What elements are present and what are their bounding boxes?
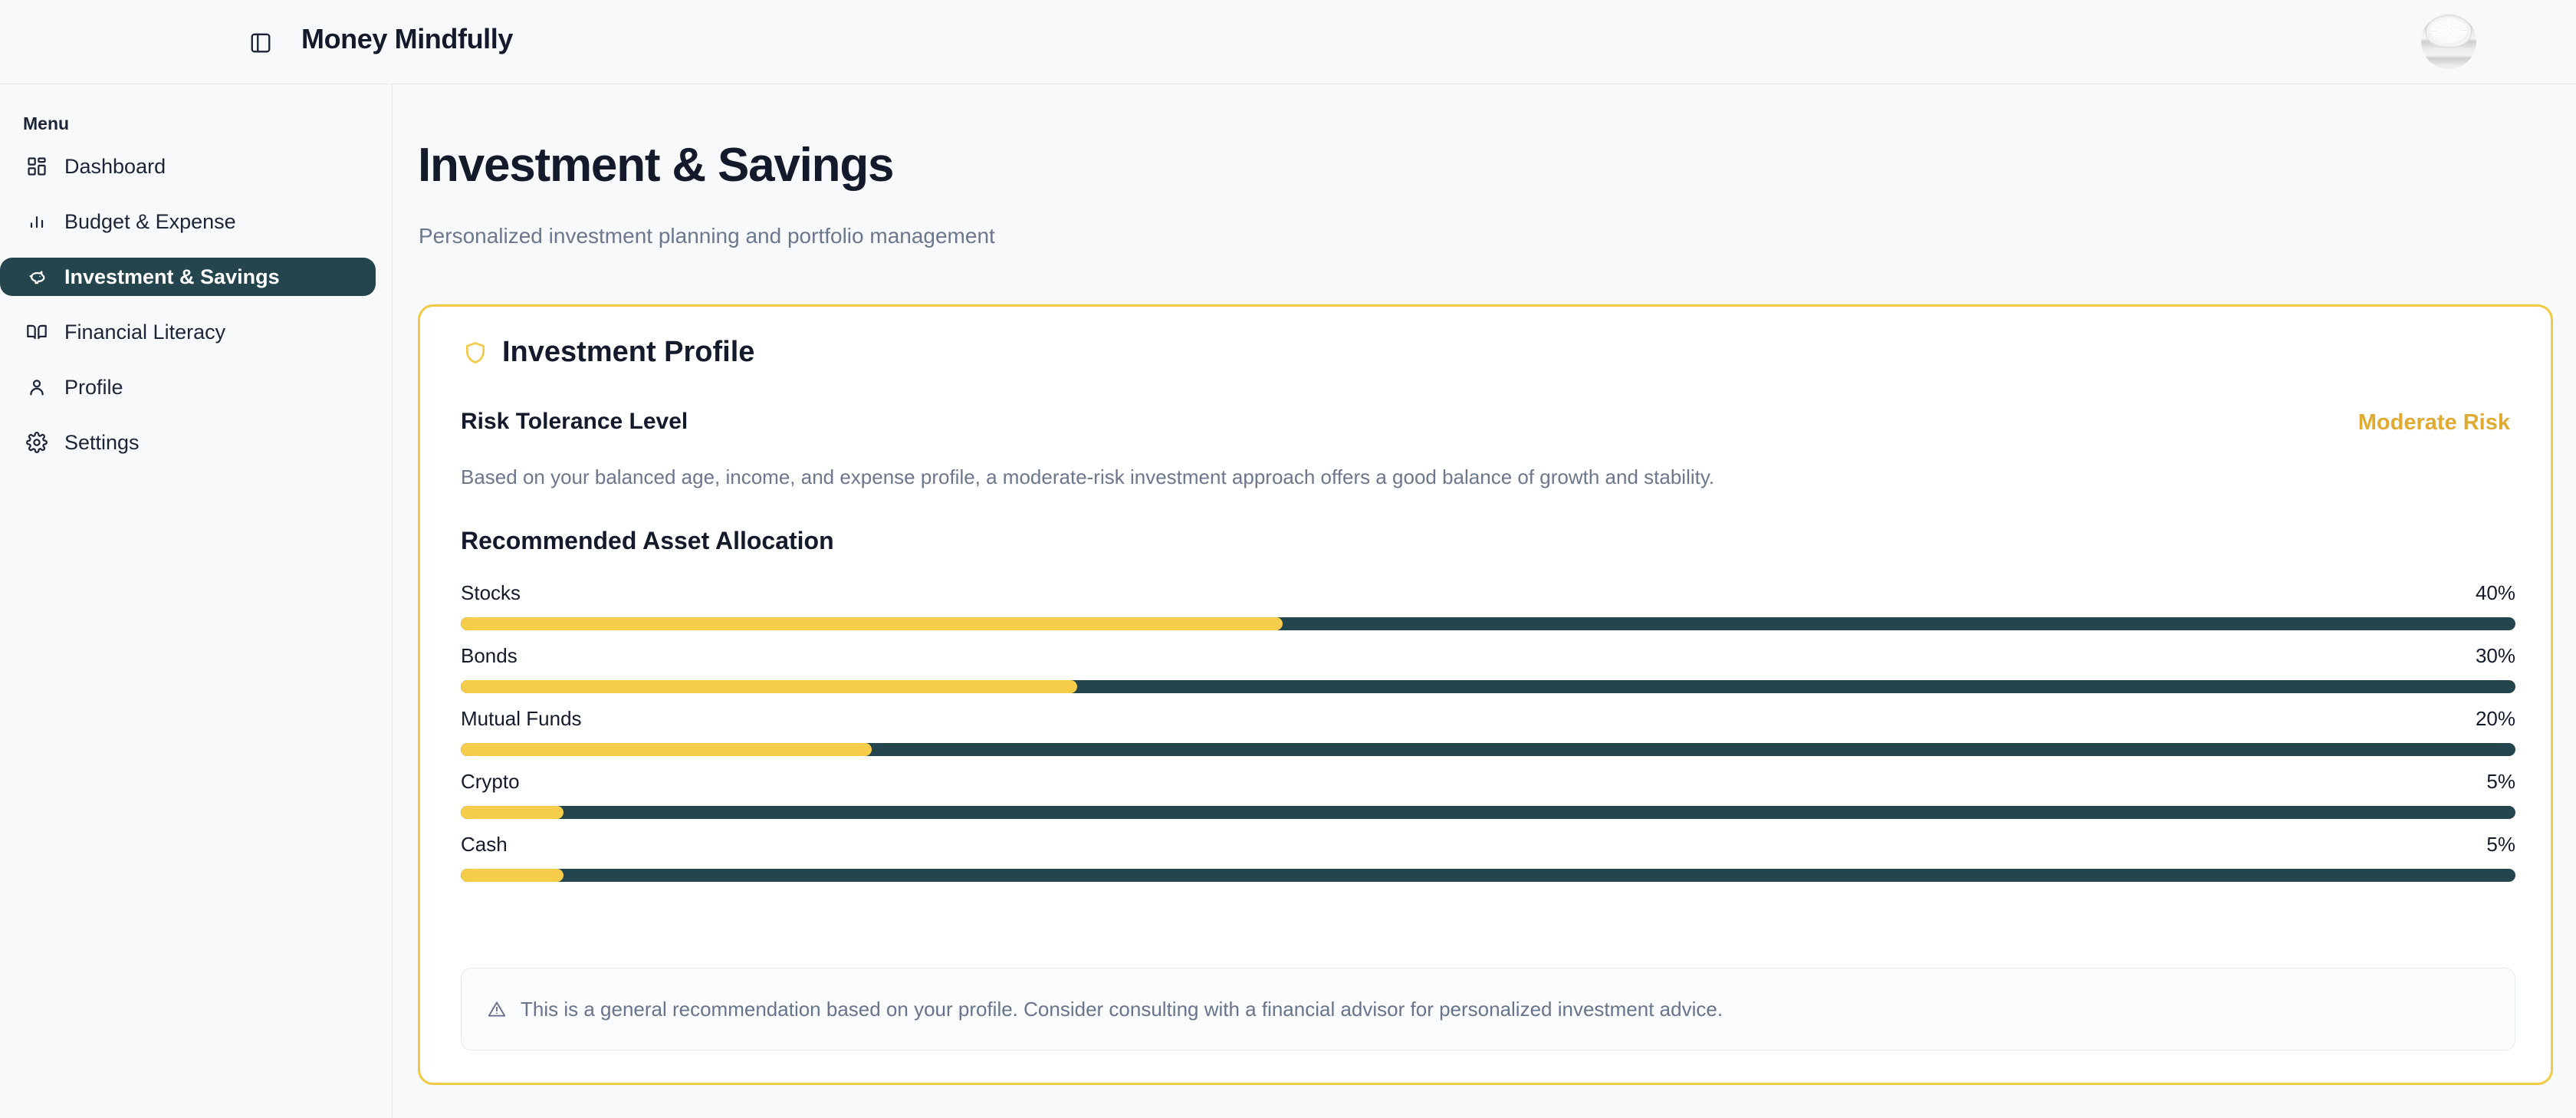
allocation-bar-track bbox=[461, 869, 2515, 882]
allocation-label: Cash bbox=[461, 833, 508, 857]
allocation-bar-fill bbox=[461, 806, 563, 819]
allocation-bar-track bbox=[461, 743, 2515, 756]
asset-allocation-list: Stocks 40% Bonds 30% Mutual Funds bbox=[461, 581, 2515, 896]
allocation-row: Cash 5% bbox=[461, 833, 2515, 882]
shield-icon bbox=[463, 340, 488, 365]
investment-profile-card: Investment Profile Risk Tolerance Level … bbox=[418, 304, 2553, 1085]
gear-icon bbox=[23, 429, 51, 456]
card-header: Investment Profile bbox=[463, 336, 754, 369]
user-avatar[interactable] bbox=[2421, 14, 2476, 69]
allocation-value: 5% bbox=[2486, 833, 2515, 857]
allocation-bar-track bbox=[461, 680, 2515, 693]
sidebar-item-dashboard[interactable]: Dashboard bbox=[0, 147, 393, 186]
allocation-value: 20% bbox=[2476, 707, 2515, 731]
allocation-label: Stocks bbox=[461, 581, 521, 605]
allocation-bar-track bbox=[461, 617, 2515, 630]
allocation-label: Mutual Funds bbox=[461, 707, 582, 731]
page-title: Investment & Savings bbox=[418, 138, 893, 192]
warning-triangle-icon bbox=[487, 999, 507, 1019]
sidebar-toggle-icon[interactable] bbox=[245, 28, 276, 58]
allocation-bar-track bbox=[461, 806, 2515, 819]
allocation-row: Bonds 30% bbox=[461, 644, 2515, 693]
disclaimer-note: This is a general recommendation based o… bbox=[461, 968, 2515, 1051]
user-icon bbox=[23, 373, 51, 401]
app-title: Money Mindfully bbox=[301, 23, 513, 55]
sidebar-item-label: Dashboard bbox=[64, 156, 166, 177]
allocation-title: Recommended Asset Allocation bbox=[461, 527, 834, 555]
risk-level-badge: Moderate Risk bbox=[2358, 410, 2510, 436]
piggy-bank-icon bbox=[23, 263, 51, 291]
risk-tolerance-title: Risk Tolerance Level bbox=[461, 409, 688, 434]
sidebar-item-label: Profile bbox=[64, 377, 123, 398]
open-book-icon bbox=[23, 318, 51, 346]
card-title: Investment Profile bbox=[502, 336, 754, 369]
risk-description: Based on your balanced age, income, and … bbox=[461, 465, 1714, 489]
allocation-bar-fill bbox=[461, 869, 563, 882]
allocation-value: 5% bbox=[2486, 770, 2515, 794]
allocation-row: Crypto 5% bbox=[461, 770, 2515, 819]
allocation-row: Stocks 40% bbox=[461, 581, 2515, 630]
sidebar-item-settings[interactable]: Settings bbox=[0, 423, 393, 462]
allocation-bar-fill bbox=[461, 680, 1077, 693]
sidebar-item-label: Investment & Savings bbox=[64, 267, 280, 288]
allocation-row: Mutual Funds 20% bbox=[461, 707, 2515, 756]
sidebar-item-label: Financial Literacy bbox=[64, 322, 225, 343]
risk-tolerance-row: Risk Tolerance Level Moderate Risk bbox=[461, 409, 2510, 439]
allocation-bar-fill bbox=[461, 617, 1283, 630]
sidebar-item-budget-expense[interactable]: Budget & Expense bbox=[0, 202, 393, 241]
allocation-label: Bonds bbox=[461, 644, 517, 668]
page-subtitle: Personalized investment planning and por… bbox=[419, 224, 995, 248]
sidebar-nav: Dashboard Budget & Expense Investment & … bbox=[0, 147, 393, 478]
sidebar-item-label: Settings bbox=[64, 432, 140, 453]
allocation-label: Crypto bbox=[461, 770, 520, 794]
grid-icon bbox=[23, 153, 51, 180]
allocation-value: 30% bbox=[2476, 644, 2515, 668]
allocation-value: 40% bbox=[2476, 581, 2515, 605]
bar-chart-icon bbox=[23, 208, 51, 235]
sidebar-item-profile[interactable]: Profile bbox=[0, 368, 393, 406]
top-header-bar: Money Mindfully bbox=[0, 0, 2576, 84]
allocation-bar-fill bbox=[461, 743, 872, 756]
sidebar-item-label: Budget & Expense bbox=[64, 212, 236, 232]
sidebar-item-investment-savings[interactable]: Investment & Savings bbox=[0, 258, 376, 296]
sidebar-section-label: Menu bbox=[23, 113, 69, 134]
disclaimer-text: This is a general recommendation based o… bbox=[521, 998, 1723, 1021]
main-content: Investment & Savings Personalized invest… bbox=[393, 84, 2576, 1118]
sidebar: Menu Dashboard Budget & Expense bbox=[0, 84, 393, 1118]
sidebar-item-financial-literacy[interactable]: Financial Literacy bbox=[0, 313, 393, 351]
